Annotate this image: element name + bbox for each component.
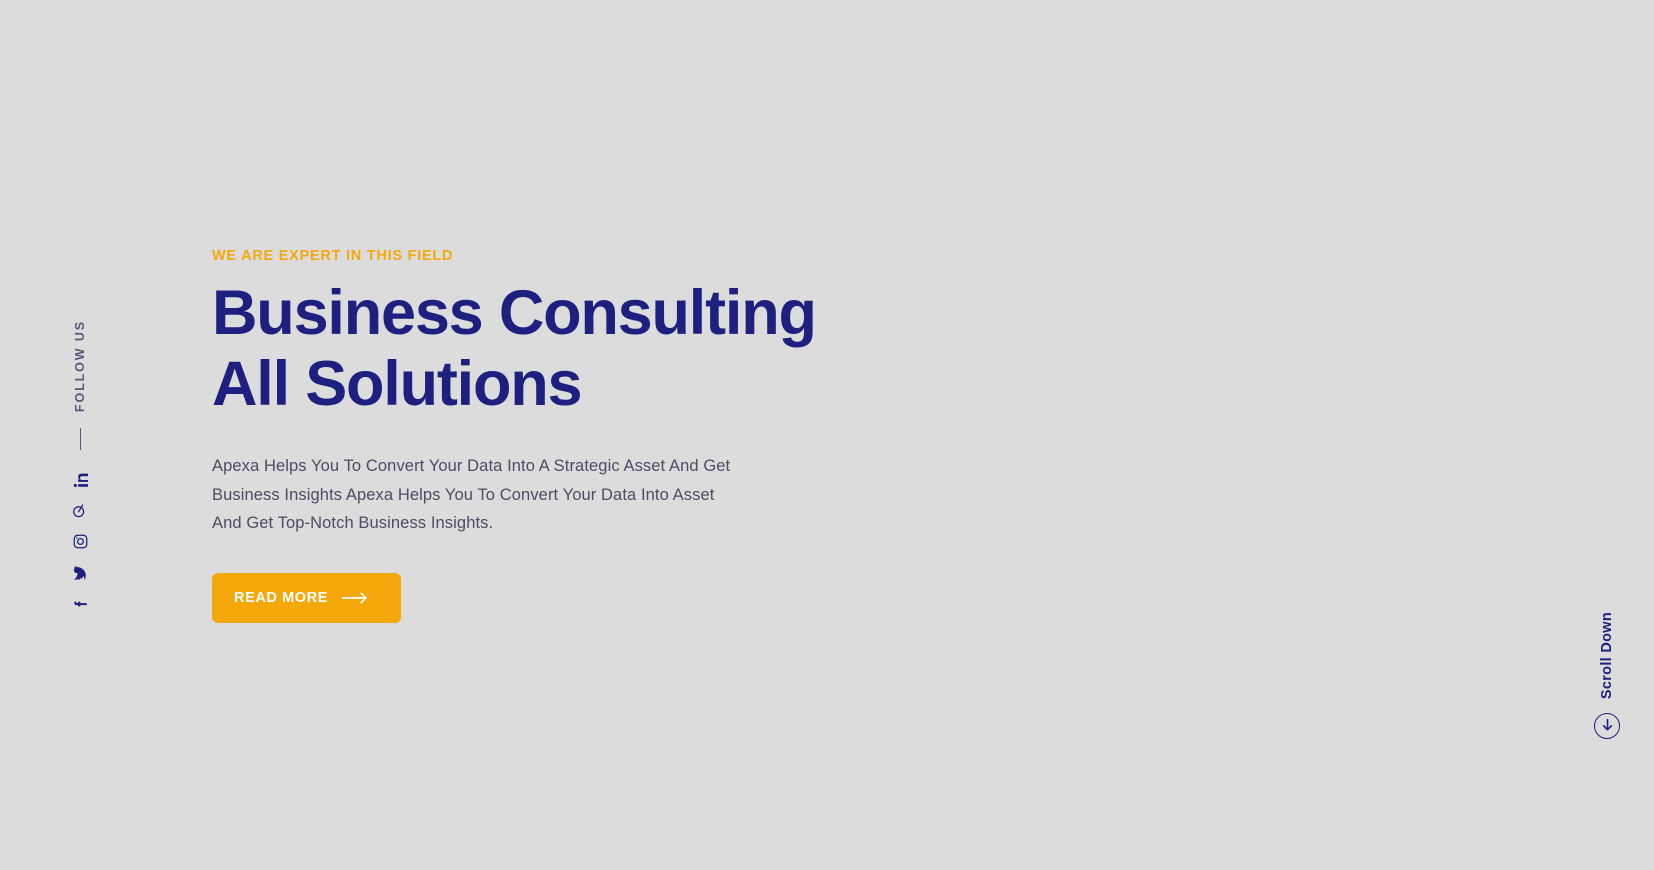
social-link-linkedin[interactable] (65, 464, 95, 495)
arrow-right-icon (342, 592, 368, 604)
hero-title-line-2: All Solutions (212, 353, 972, 416)
social-link-instagram[interactable] (65, 526, 95, 557)
scroll-down-indicator[interactable]: Scroll Down (1594, 612, 1620, 739)
read-more-button[interactable]: READ MORE (212, 573, 401, 624)
facebook-icon (73, 596, 88, 611)
hero-eyebrow: WE ARE EXPERT IN THIS FIELD (212, 248, 972, 265)
social-link-pinterest[interactable] (65, 495, 95, 526)
instagram-icon (73, 534, 88, 549)
page-title: Business Consulting All Solutions (212, 282, 972, 416)
linkedin-icon (73, 472, 88, 487)
hero-description: Apexa Helps You To Convert Your Data Int… (212, 452, 732, 537)
hero-title-line-1: Business Consulting (212, 282, 972, 345)
social-link-twitter[interactable] (65, 557, 95, 588)
follow-us-label: FOLLOW US (74, 318, 87, 414)
social-rail: FOLLOW US (58, 318, 102, 619)
social-link-facebook[interactable] (65, 588, 95, 619)
pinterest-icon (72, 503, 88, 519)
hero-section: WE ARE EXPERT IN THIS FIELD Business Con… (212, 248, 972, 623)
scroll-down-button[interactable] (1594, 713, 1620, 739)
read-more-label: READ MORE (234, 591, 328, 606)
arrow-down-icon (1601, 718, 1614, 735)
scroll-down-label: Scroll Down (1600, 612, 1615, 699)
rail-divider (80, 428, 81, 450)
twitter-icon (72, 565, 88, 581)
